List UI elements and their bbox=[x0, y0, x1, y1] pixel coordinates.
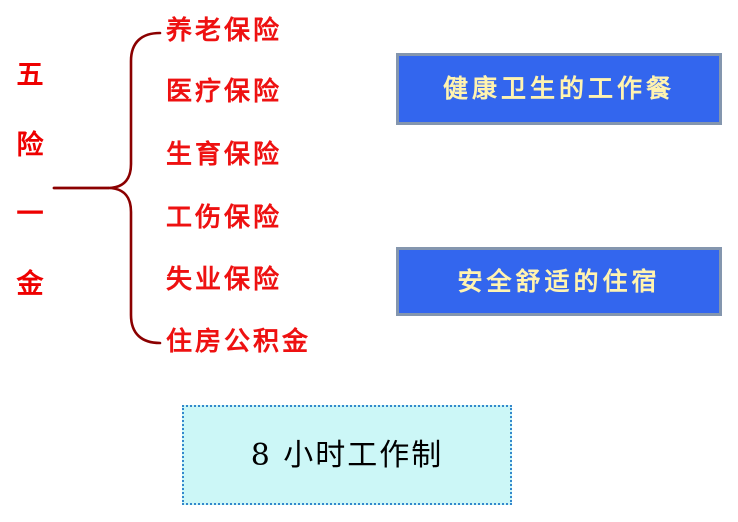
vlabel-char-4: 金 bbox=[17, 271, 44, 298]
list-item-pension: 养老保险 bbox=[166, 15, 282, 47]
list-item-maternity: 生育保险 bbox=[166, 139, 282, 171]
five-insurances-one-fund-label: 五 险 一 金 bbox=[8, 62, 52, 298]
housing-benefit-label: 安全舒适的住宿 bbox=[457, 268, 660, 296]
work-hours-label: 8 小时工作制 bbox=[251, 439, 444, 472]
list-item-medical: 医疗保险 bbox=[166, 76, 282, 108]
meal-benefit-label: 健康卫生的工作餐 bbox=[443, 75, 675, 103]
work-hours-box: 8 小时工作制 bbox=[182, 405, 512, 505]
list-item-unemployment: 失业保险 bbox=[166, 264, 282, 296]
slide-canvas: 五 险 一 金 养老保险 医疗保险 生育保险 工伤保险 失业保险 住房公积金 健… bbox=[0, 0, 738, 522]
vlabel-char-3: 一 bbox=[17, 201, 44, 228]
vlabel-char-1: 五 bbox=[17, 62, 44, 89]
meal-benefit-box: 健康卫生的工作餐 bbox=[396, 53, 722, 125]
list-item-housing-fund: 住房公积金 bbox=[166, 326, 311, 358]
housing-benefit-box: 安全舒适的住宿 bbox=[396, 247, 722, 316]
curly-brace bbox=[50, 22, 168, 352]
curly-brace-icon bbox=[50, 22, 168, 352]
insurance-list: 养老保险 医疗保险 生育保险 工伤保险 失业保险 住房公积金 bbox=[166, 8, 406, 360]
vlabel-char-2: 险 bbox=[17, 132, 44, 159]
list-item-injury: 工伤保险 bbox=[166, 202, 282, 234]
